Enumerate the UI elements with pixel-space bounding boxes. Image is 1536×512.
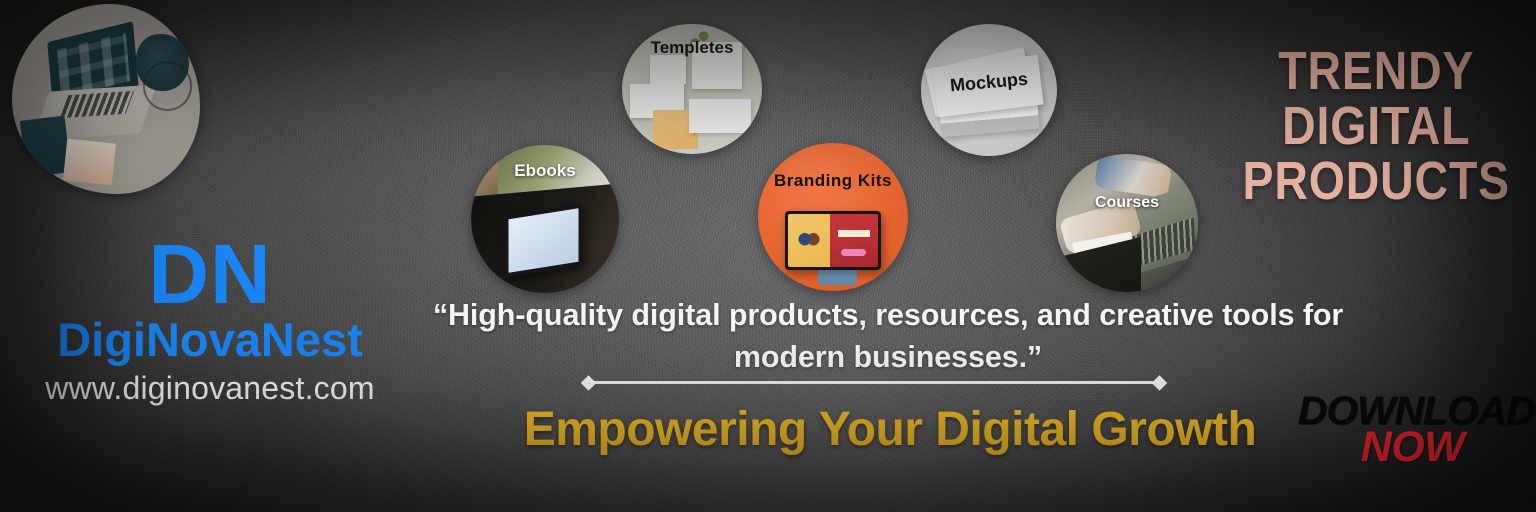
product-badge-ebooks[interactable]: Ebooks [471, 145, 619, 293]
page-title: TRENDY DIGITAL PRODUCTS [1243, 44, 1510, 209]
product-badge-label: Branding Kits [758, 171, 908, 191]
product-badge-courses[interactable]: Courses [1056, 154, 1198, 292]
product-badge-mockups[interactable]: Mockups [921, 24, 1057, 156]
printed-paper-shape [63, 138, 116, 185]
divider [588, 381, 1160, 384]
product-badge-branding-kits[interactable]: Branding Kits [758, 143, 908, 291]
screen-left-panel [788, 214, 830, 267]
brand-name: DigiNovaNest [10, 315, 410, 364]
illustration-shape [797, 225, 821, 256]
tablet-screen [788, 214, 878, 267]
promo-banner: DN DigiNovaNest www.diginovanest.com Tem… [0, 0, 1536, 512]
headline-quote: “High-quality digital products, resource… [388, 294, 1388, 378]
download-now-button[interactable]: DOWNLOAD NOW [1300, 392, 1525, 469]
product-badge-templates[interactable]: Templetes [622, 24, 762, 154]
brand-website[interactable]: www.diginovanest.com [10, 369, 410, 407]
brand-monogram: DN [10, 236, 410, 313]
template-card-shape [650, 55, 686, 84]
tagline: Empowering Your Digital Growth [400, 404, 1380, 457]
ebook-tablet-shape [504, 204, 582, 278]
download-label: DOWNLOAD [1298, 392, 1528, 430]
page-title-line-3: PRODUCTS [1243, 154, 1510, 209]
person-arm-shape [1094, 154, 1172, 198]
product-badge-label: Courses [1056, 194, 1198, 212]
page-title-line-1: TRENDY [1243, 44, 1510, 99]
template-card-shape [689, 99, 751, 133]
now-label: NOW [1300, 427, 1525, 468]
workspace-photo [12, 4, 200, 194]
brand-logo: DN DigiNovaNest www.diginovanest.com [10, 236, 410, 407]
branding-tablet-shape [785, 211, 881, 270]
headphone-cable-shape [143, 61, 192, 111]
screen-right-panel [830, 214, 878, 267]
product-badge-label: Templetes [622, 38, 762, 58]
product-badge-label: Ebooks [471, 161, 619, 181]
page-title-line-2: DIGITAL [1243, 99, 1510, 154]
